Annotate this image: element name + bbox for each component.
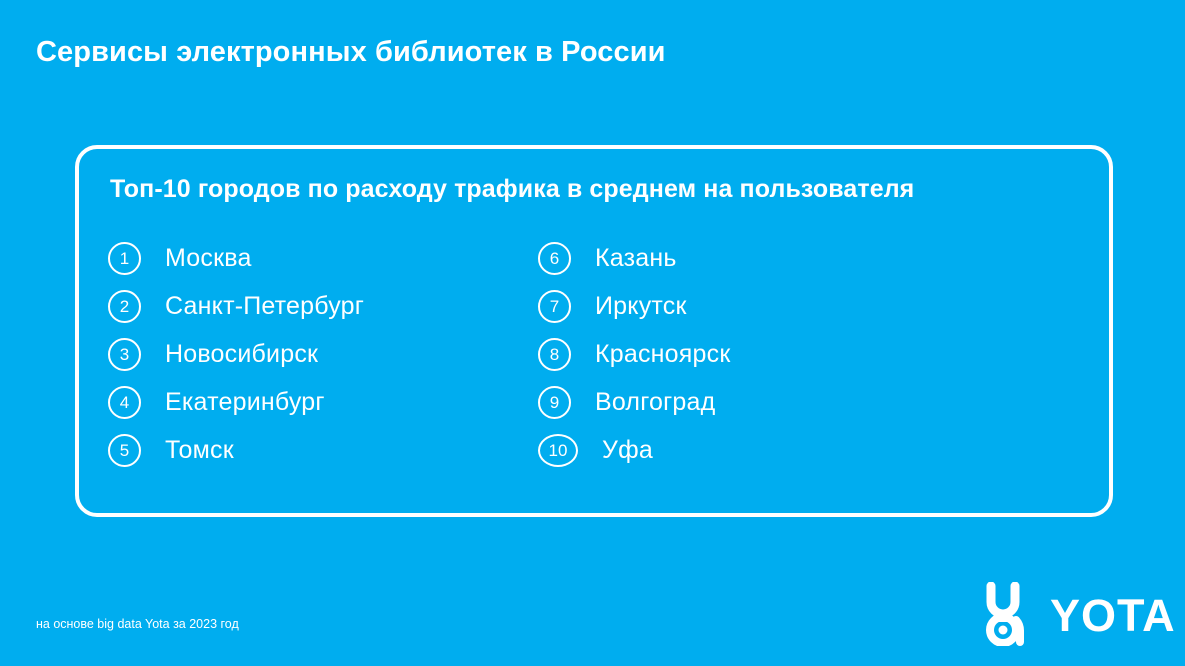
city-label: Томск: [165, 436, 234, 465]
list-item: 5 Томск: [108, 426, 538, 474]
rank-badge: 1: [108, 242, 141, 275]
rank-badge: 7: [538, 290, 571, 323]
slide-canvas: Сервисы электронных библиотек в России Т…: [0, 0, 1185, 666]
list-item: 3 Новосибирск: [108, 330, 538, 378]
list-item: 1 Москва: [108, 234, 538, 282]
city-label: Иркутск: [595, 292, 687, 321]
rank-badge: 5: [108, 434, 141, 467]
yota-figure-icon: [985, 582, 1041, 646]
ranking-card: Топ-10 городов по расходу трафика в сред…: [75, 145, 1113, 517]
ranking-column-right: 6 Казань 7 Иркутск 8 Красноярск 9 Волгог…: [538, 234, 968, 474]
rank-badge: 9: [538, 386, 571, 419]
city-label: Новосибирск: [165, 340, 318, 369]
city-label: Красноярск: [595, 340, 730, 369]
card-heading: Топ-10 городов по расходу трафика в сред…: [110, 175, 914, 204]
city-label: Москва: [165, 244, 252, 273]
ranking-column-left: 1 Москва 2 Санкт-Петербург 3 Новосибирск…: [108, 234, 538, 474]
list-item: 7 Иркутск: [538, 282, 968, 330]
source-footnote: на основе big data Yota за 2023 год: [36, 617, 239, 631]
list-item: 2 Санкт-Петербург: [108, 282, 538, 330]
brand-logo: YOTA: [985, 581, 1157, 647]
city-label: Екатеринбург: [165, 388, 325, 417]
city-label: Санкт-Петербург: [165, 292, 364, 321]
list-item: 6 Казань: [538, 234, 968, 282]
list-item: 8 Красноярск: [538, 330, 968, 378]
rank-badge: 6: [538, 242, 571, 275]
rank-badge: 4: [108, 386, 141, 419]
page-title: Сервисы электронных библиотек в России: [36, 36, 666, 69]
rank-badge: 2: [108, 290, 141, 323]
rank-badge: 3: [108, 338, 141, 371]
city-label: Уфа: [602, 436, 653, 465]
city-label: Волгоград: [595, 388, 715, 417]
brand-wordmark: YOTA: [1050, 593, 1176, 638]
list-item: 4 Екатеринбург: [108, 378, 538, 426]
list-item: 9 Волгоград: [538, 378, 968, 426]
rank-badge: 10: [538, 434, 578, 467]
city-label: Казань: [595, 244, 677, 273]
list-item: 10 Уфа: [538, 426, 968, 474]
rank-badge: 8: [538, 338, 571, 371]
